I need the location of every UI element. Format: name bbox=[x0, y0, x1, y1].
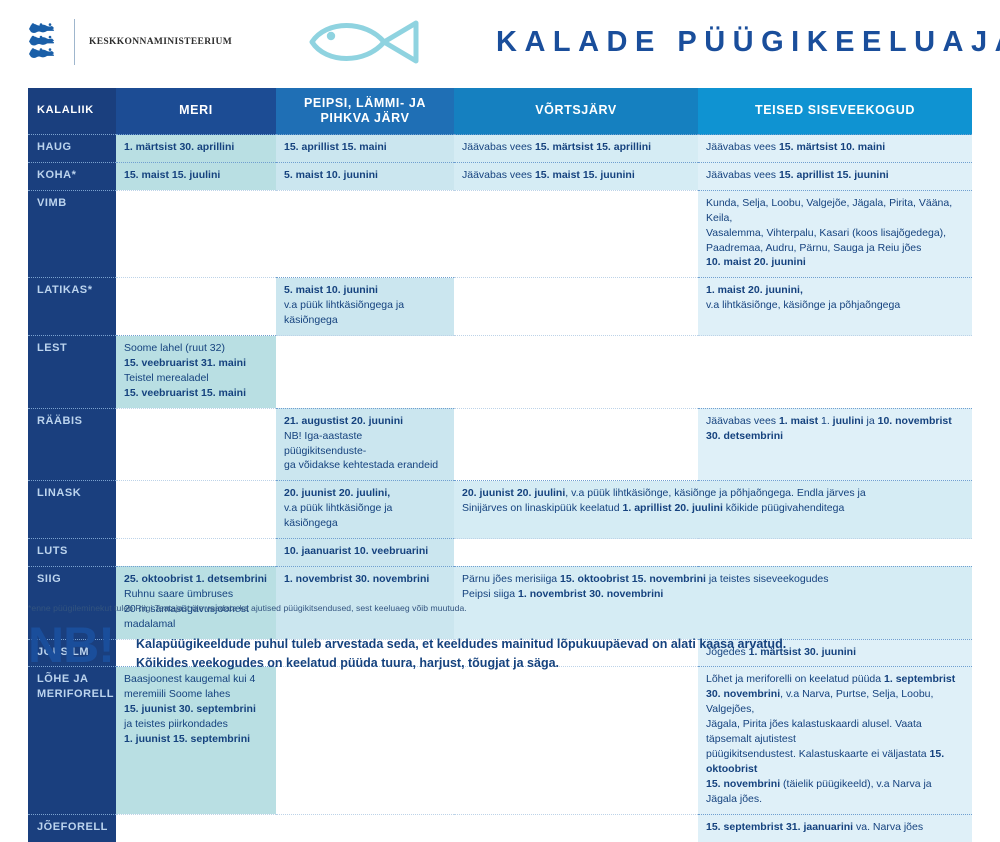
cell-line: 21. augustist 20. juunini bbox=[284, 414, 446, 429]
cell-line: Sinijärves on linaskipüük keelatud 1. ap… bbox=[462, 501, 964, 516]
nb-text: Kalapüügikeeldude puhul tuleb arvestada … bbox=[136, 622, 786, 674]
cell-teised-bold: 15. märtsist 10. maini bbox=[779, 141, 885, 153]
cell-vortsjarv bbox=[454, 408, 698, 481]
cell-teised: Jäävabas vees 15. märtsist 10. maini bbox=[698, 135, 972, 163]
table-row: LINASK 20. juunist 20. juulini, v.a püük… bbox=[28, 481, 972, 539]
cell-line: 15. veebruarist 31. maini bbox=[124, 356, 268, 371]
cell-peipsi: 5. maist 10. juunini v.a püük lihtkäsiõn… bbox=[276, 278, 454, 336]
table-row: HAUG 1. märtsist 30. aprillini 15. april… bbox=[28, 135, 972, 163]
cell-meri: 1. märtsist 30. aprillini bbox=[116, 135, 276, 163]
cell-teised bbox=[698, 539, 972, 567]
cell-peipsi: 21. augustist 20. juunini NB! Iga-aastas… bbox=[276, 408, 454, 481]
cell-line: 15. novembrini (täielik püügikeeld), v.a… bbox=[706, 777, 964, 807]
cell-line: 25. oktoobrist 1. detsembrini bbox=[124, 572, 268, 587]
cell-vortsjarv-bold: 15. maist 15. juunini bbox=[535, 169, 635, 181]
cell-meri bbox=[116, 481, 276, 539]
cell-line: 15. juunist 30. septembrini bbox=[124, 702, 268, 717]
cell-line: Paadremaa, Audru, Pärnu, Sauga ja Reiu j… bbox=[706, 241, 964, 256]
cell-line: Lõhet ja meriforelli on keelatud püüda 1… bbox=[706, 672, 964, 687]
cell-teised-bold: 15. septembrist 31. jaanuarini bbox=[706, 821, 853, 833]
ministry-branding: Keskkonnaministeerium bbox=[28, 19, 232, 65]
cell-line: 20. juunist 20. juulini, v.a püük lihtkä… bbox=[462, 486, 964, 501]
cell-peipsi: 20. juunist 20. juulini, v.a püük lihtkä… bbox=[276, 481, 454, 539]
species-name: RÄÄBIS bbox=[28, 408, 116, 481]
cell-meri: Baasjoonest kaugemal kui 4 meremiili Soo… bbox=[116, 667, 276, 814]
cell-meri bbox=[116, 278, 276, 336]
species-name: LUTS bbox=[28, 539, 116, 567]
ministry-name: Keskkonnaministeerium bbox=[89, 37, 232, 47]
cell-peipsi bbox=[276, 814, 454, 841]
cell-teised: Kunda, Selja, Loobu, Valgejõe, Jägala, P… bbox=[698, 190, 972, 278]
species-name: JÕEFORELL bbox=[28, 814, 116, 841]
nb-line-1: Kalapüügikeeldude puhul tuleb arvestada … bbox=[136, 635, 786, 654]
header-divider bbox=[74, 19, 75, 65]
cell-line: 1. juunist 15. septembrini bbox=[124, 732, 268, 747]
cell-line: meremiili Soome lahes bbox=[124, 687, 268, 702]
species-name: LEST bbox=[28, 336, 116, 409]
cell-line: 15. veebruarist 15. maini bbox=[124, 386, 268, 401]
cell-meri bbox=[116, 814, 276, 841]
column-header-meri: MERI bbox=[116, 88, 276, 135]
cell-line: 5. maist 10. juunini bbox=[284, 283, 446, 298]
cell-line: 30. detsembrini bbox=[706, 429, 964, 444]
cell-vortsjarv bbox=[454, 336, 698, 409]
column-header-vortsjarv: VÕRTSJÄRV bbox=[454, 88, 698, 135]
table-row: LEST Soome lahel (ruut 32) 15. veebruari… bbox=[28, 336, 972, 409]
cell-line: ga võidakse kehtestada erandeid bbox=[284, 458, 446, 473]
species-name: VIMB bbox=[28, 190, 116, 278]
nb-mark: NB! bbox=[28, 622, 136, 670]
cell-vortsjarv bbox=[454, 190, 698, 278]
cell-peipsi bbox=[276, 190, 454, 278]
cell-peipsi bbox=[276, 667, 454, 814]
footnote: *enne püügileminekut tuleb Riigi Teataja… bbox=[28, 603, 972, 613]
page-title: KALADE PÜÜGIKEELUAJAD bbox=[496, 26, 1000, 59]
cell-peipsi: 5. maist 10. juunini bbox=[276, 162, 454, 190]
cell-vortsjarv-teised-merged: 20. juunist 20. juulini, v.a püük lihtkä… bbox=[454, 481, 972, 539]
species-name: KOHA* bbox=[28, 162, 116, 190]
cell-line: v.a püük lihtkäsiõngega ja käsiõngega bbox=[284, 298, 446, 328]
cell-line: NB! Iga-aastaste püügikitsenduste- bbox=[284, 429, 446, 459]
table-row: LUTS 10. jaanuarist 10. veebruarini bbox=[28, 539, 972, 567]
fishing-ban-table: KALALIIK MERI PEIPSI, LÄMMI- JA PIHKVA J… bbox=[28, 88, 972, 842]
cell-teised bbox=[698, 336, 972, 409]
cell-line: 20. juunist 20. juulini, bbox=[284, 486, 446, 501]
cell-vortsjarv bbox=[454, 539, 698, 567]
cell-line: Soome lahel (ruut 32) bbox=[124, 341, 268, 356]
table-row: RÄÄBIS 21. augustist 20. juunini NB! Iga… bbox=[28, 408, 972, 481]
cell-meri: 15. maist 15. juulini bbox=[116, 162, 276, 190]
cell-line: Teistel merealadel bbox=[124, 371, 268, 386]
estonia-three-lions-coat-of-arms-icon bbox=[28, 21, 58, 63]
cell-meri bbox=[116, 190, 276, 278]
nb-line-2: Kõikides veekogudes on keelatud püüda tu… bbox=[136, 654, 786, 673]
cell-teised: 1. maist 20. juunini, v.a lihtkäsiõnge, … bbox=[698, 278, 972, 336]
cell-vortsjarv bbox=[454, 667, 698, 814]
cell-line: Jäävabas vees 1. maist 1. juulini ja 10.… bbox=[706, 414, 964, 429]
cell-line: v.a lihtkäsiõnge, käsiõnge ja põhjaõngeg… bbox=[706, 298, 964, 313]
table-row: LATIKAS* 5. maist 10. juunini v.a püük l… bbox=[28, 278, 972, 336]
cell-line: Jägala, Pirita jões kalastuskaardi aluse… bbox=[706, 717, 964, 747]
cell-vortsjarv bbox=[454, 278, 698, 336]
cell-meri bbox=[116, 408, 276, 481]
table-row: KOHA* 15. maist 15. juulini 5. maist 10.… bbox=[28, 162, 972, 190]
table-header-row: KALALIIK MERI PEIPSI, LÄMMI- JA PIHKVA J… bbox=[28, 88, 972, 135]
column-header-teised: TEISED SISEVEEKOGUD bbox=[698, 88, 972, 135]
cell-line: Baasjoonest kaugemal kui 4 bbox=[124, 672, 268, 687]
cell-peipsi: 10. jaanuarist 10. veebruarini bbox=[276, 539, 454, 567]
cell-teised: Jäävabas vees 15. aprillist 15. juunini bbox=[698, 162, 972, 190]
cell-line: 10. maist 20. juunini bbox=[706, 255, 964, 270]
species-name: LÕHE JA MERIFORELL bbox=[28, 667, 116, 814]
cell-line: Kunda, Selja, Loobu, Valgejõe, Jägala, P… bbox=[706, 196, 964, 226]
nb-notice: NB! Kalapüügikeeldude puhul tuleb arvest… bbox=[28, 622, 972, 674]
cell-vortsjarv bbox=[454, 814, 698, 841]
cell-line: v.a püük lihtkäsiõnge ja käsiõngega bbox=[284, 501, 446, 531]
cell-teised: Lõhet ja meriforelli on keelatud püüda 1… bbox=[698, 667, 972, 814]
cell-line: Ruhnu saare ümbruses bbox=[124, 587, 268, 602]
cell-meri: Soome lahel (ruut 32) 15. veebruarist 31… bbox=[116, 336, 276, 409]
cell-line: 1. maist 20. juunini, bbox=[706, 283, 964, 298]
species-name-line: LÕHE JA bbox=[37, 672, 108, 686]
cell-vortsjarv: Jäävabas vees 15. märtsist 15. aprillini bbox=[454, 135, 698, 163]
cell-line: püügikitsendustest. Kalastuskaarte ei vä… bbox=[706, 747, 964, 777]
cell-teised: Jäävabas vees 1. maist 1. juulini ja 10.… bbox=[698, 408, 972, 481]
species-name-line: MERIFORELL bbox=[37, 687, 108, 701]
species-name: LINASK bbox=[28, 481, 116, 539]
column-header-peipsi: PEIPSI, LÄMMI- JA PIHKVA JÄRV bbox=[276, 88, 454, 135]
cell-line: 30. novembrini, v.a Narva, Purtse, Selja… bbox=[706, 687, 964, 717]
cell-teised: 15. septembrist 31. jaanuarini va. Narva… bbox=[698, 814, 972, 841]
species-name: LATIKAS* bbox=[28, 278, 116, 336]
cell-line: Pärnu jões merisiiga 15. oktoobrist 15. … bbox=[462, 572, 964, 587]
species-name: HAUG bbox=[28, 135, 116, 163]
cell-teised-bold: 15. aprillist 15. juunini bbox=[779, 169, 889, 181]
cell-vortsjarv: Jäävabas vees 15. maist 15. juunini bbox=[454, 162, 698, 190]
table-row: VIMB Kunda, Selja, Loobu, Valgejõe, Jäga… bbox=[28, 190, 972, 278]
cell-peipsi bbox=[276, 336, 454, 409]
table-row: JÕEFORELL 15. septembrist 31. jaanuarini… bbox=[28, 814, 972, 841]
cell-meri bbox=[116, 539, 276, 567]
column-header-species: KALALIIK bbox=[28, 88, 116, 135]
cell-line: Peipsi siiga 1. novembrist 30. novembrin… bbox=[462, 587, 964, 602]
cell-vortsjarv-bold: 15. märtsist 15. aprillini bbox=[535, 141, 651, 153]
cell-line: Vasalemma, Vihterpalu, Kasari (koos lisa… bbox=[706, 226, 964, 241]
fish-outline-icon bbox=[304, 13, 424, 71]
cell-peipsi: 15. aprillist 15. maini bbox=[276, 135, 454, 163]
cell-line: ja teistes piirkondades bbox=[124, 717, 268, 732]
table-row: LÕHE JA MERIFORELL Baasjoonest kaugemal … bbox=[28, 667, 972, 814]
page-header: Keskkonnaministeerium KALADE PÜÜGIKEELUA… bbox=[0, 0, 1000, 84]
